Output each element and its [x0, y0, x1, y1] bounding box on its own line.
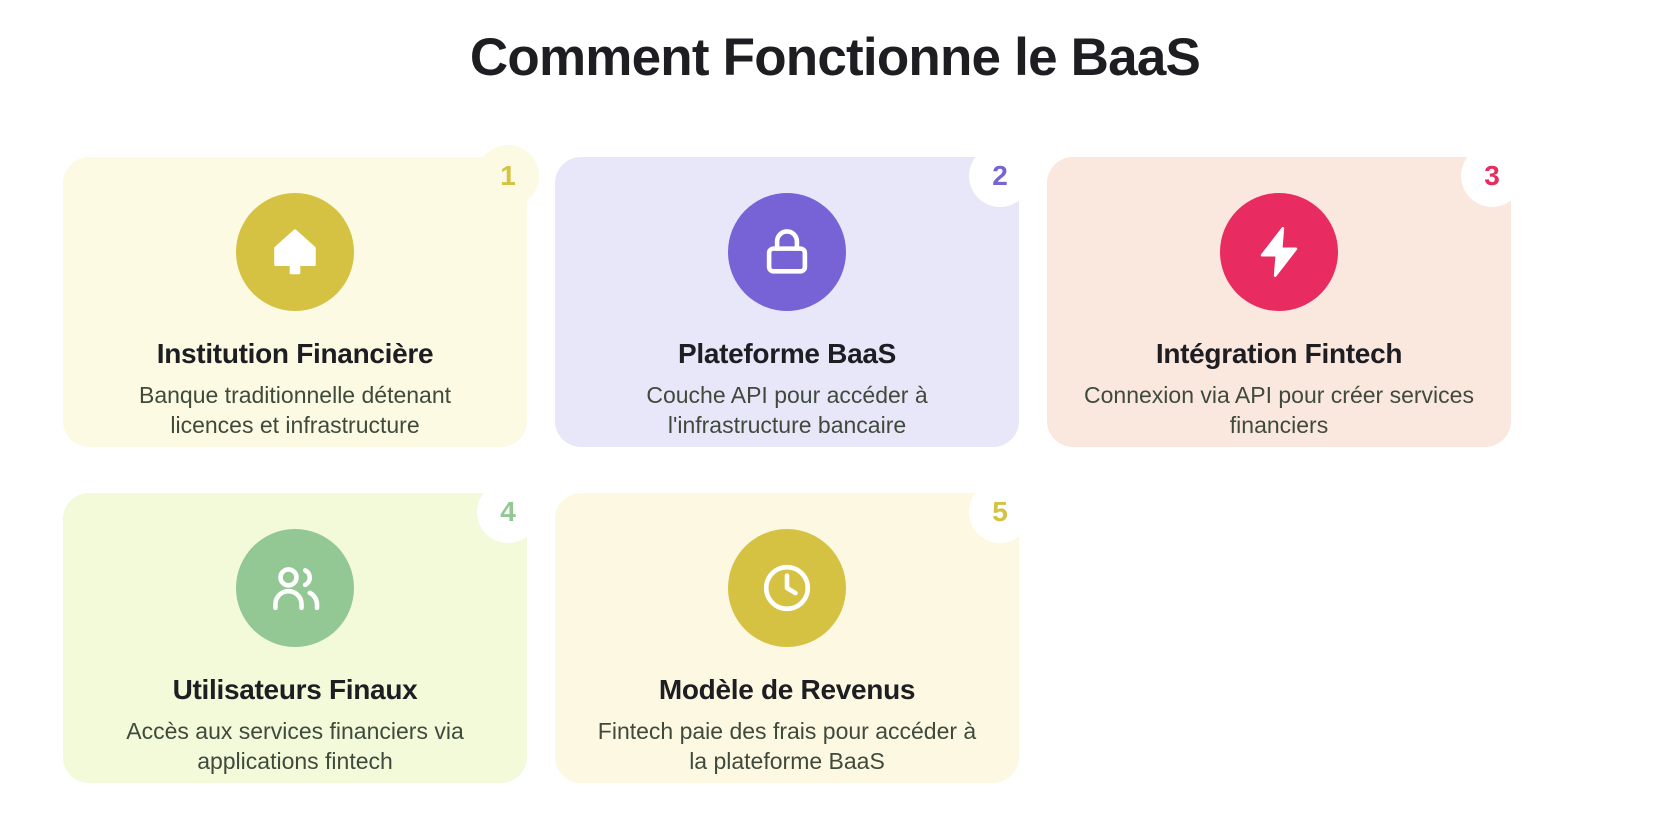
step-description: Banque traditionnelle détenant licences …: [95, 380, 495, 441]
step-number-badge: 5: [969, 481, 1031, 543]
step-card[interactable]: 2Plateforme BaaSCouche API pour accéder …: [555, 157, 1019, 447]
step-description: Connexion via API pour créer services fi…: [1079, 380, 1479, 441]
step-title: Utilisateurs Finaux: [173, 673, 418, 707]
step-description: Accès aux services financiers via applic…: [95, 716, 495, 777]
step-number-badge: 4: [477, 481, 539, 543]
page-title: Comment Fonctionne le BaaS: [0, 28, 1670, 89]
card-grid: 1Institution FinancièreBanque traditionn…: [63, 157, 1513, 783]
step-icon-circle: [728, 193, 846, 311]
step-icon-circle: [236, 193, 354, 311]
step-icon-circle: [1220, 193, 1338, 311]
step-icon-circle: [728, 529, 846, 647]
step-number-badge: 2: [969, 145, 1031, 207]
step-card[interactable]: 4Utilisateurs FinauxAccès aux services f…: [63, 493, 527, 783]
step-title: Plateforme BaaS: [678, 337, 896, 371]
step-title: Intégration Fintech: [1156, 337, 1402, 371]
bank-house-icon: [266, 223, 324, 281]
step-description: Fintech paie des frais pour accéder à la…: [587, 716, 987, 777]
step-number-badge: 3: [1461, 145, 1523, 207]
clock-icon: [758, 559, 816, 617]
step-icon-circle: [236, 529, 354, 647]
lightning-bolt-icon: [1250, 223, 1308, 281]
step-card[interactable]: 3Intégration FintechConnexion via API po…: [1047, 157, 1511, 447]
infographic-page: Comment Fonctionne le BaaS 1Institution …: [0, 0, 1670, 828]
step-title: Modèle de Revenus: [659, 673, 915, 707]
lock-icon: [758, 223, 816, 281]
step-card[interactable]: 1Institution FinancièreBanque traditionn…: [63, 157, 527, 447]
step-description: Couche API pour accéder à l'infrastructu…: [587, 380, 987, 441]
users-icon: [266, 559, 324, 617]
step-number-badge: 1: [477, 145, 539, 207]
step-title: Institution Financière: [157, 337, 434, 371]
step-card[interactable]: 5Modèle de RevenusFintech paie des frais…: [555, 493, 1019, 783]
